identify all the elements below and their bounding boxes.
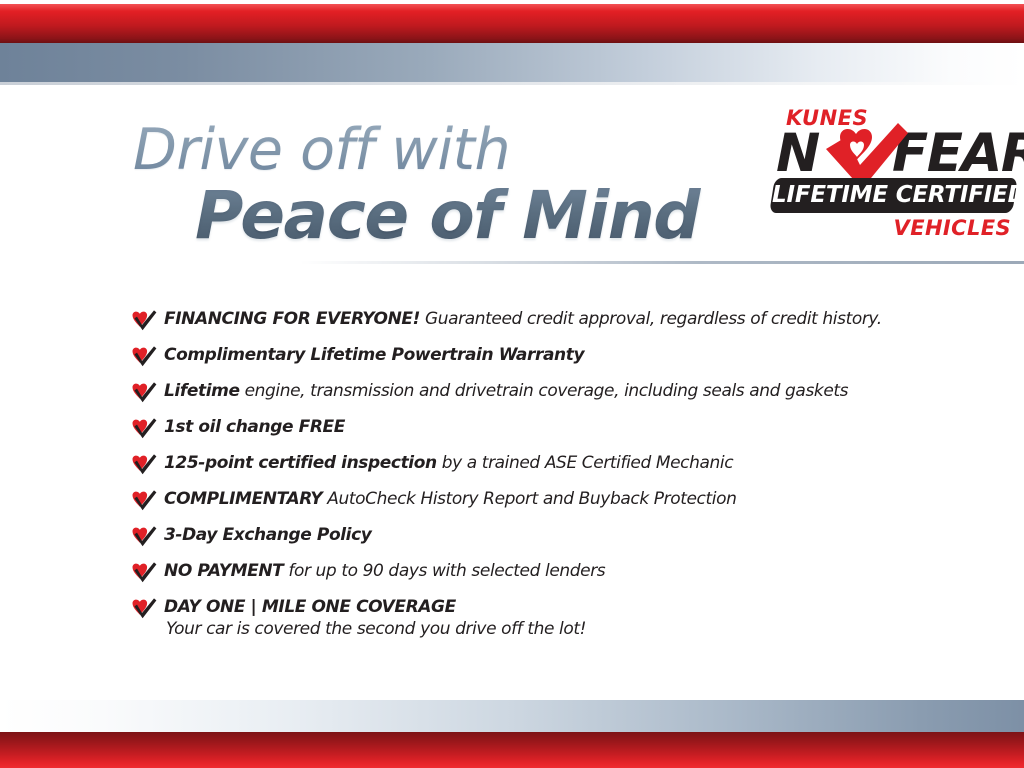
list-item-lead: COMPLIMENTARY	[164, 489, 322, 509]
list-item-lead: 1st oil change FREE	[164, 417, 345, 437]
heart-check-icon	[131, 525, 157, 547]
list-item-text: 1st oil change FREE	[164, 416, 931, 438]
list-item-tail: AutoCheck History Report and Buyback Pro…	[322, 489, 736, 509]
heart-check-icon	[131, 309, 157, 331]
list-item: COMPLIMENTARY AutoCheck History Report a…	[131, 488, 931, 514]
list-item-tail: by a trained ASE Certified Mechanic	[437, 453, 733, 473]
top-red-highlight	[0, 4, 1024, 11]
logo-certified-label: LIFETIME CERTIFIED	[772, 178, 1015, 213]
promotional-graphic: Drive off with Peace of Mind KUNES N FEA…	[0, 0, 1024, 768]
header-divider	[300, 261, 1024, 264]
list-item-lead: 125-point certified inspection	[164, 453, 437, 473]
list-item-tail: Guaranteed credit approval, regardless o…	[420, 309, 882, 329]
top-gray-shadow	[0, 82, 1024, 85]
list-item-text: NO PAYMENT for up to 90 days with select…	[164, 560, 931, 582]
heart-check-icon	[131, 489, 157, 511]
list-item-text: COMPLIMENTARY AutoCheck History Report a…	[164, 488, 931, 510]
list-item-lead: FINANCING FOR EVERYONE!	[164, 309, 420, 329]
list-item-tail: for up to 90 days with selected lenders	[283, 561, 605, 581]
list-item: FINANCING FOR EVERYONE! Guaranteed credi…	[131, 308, 931, 334]
list-item: Lifetime engine, transmission and drivet…	[131, 380, 931, 406]
list-item-tail: engine, transmission and drivetrain cove…	[240, 381, 849, 401]
list-item-text: 3-Day Exchange Policy	[164, 524, 931, 546]
list-item-text: FINANCING FOR EVERYONE! Guaranteed credi…	[164, 308, 931, 330]
list-item: NO PAYMENT for up to 90 days with select…	[131, 560, 931, 586]
list-item-text: 125-point certified inspection by a trai…	[164, 452, 931, 474]
headline-line-1: Drive off with	[133, 122, 773, 179]
list-item-lead: Lifetime	[164, 381, 240, 401]
logo-vehicles-label: VEHICLES	[894, 216, 1011, 240]
list-item-lead: DAY ONE | MILE ONE COVERAGE	[164, 597, 456, 617]
logo-letter-n: N	[776, 126, 818, 182]
headline: Drive off with Peace of Mind	[133, 122, 773, 249]
list-item-text: Complimentary Lifetime Powertrain Warran…	[164, 344, 931, 366]
list-item-lead: Complimentary Lifetime Powertrain Warran…	[164, 345, 584, 365]
heart-check-icon	[131, 453, 157, 475]
headline-line-2: Peace of Mind	[195, 183, 773, 249]
heart-check-icon	[131, 381, 157, 403]
list-item: 3-Day Exchange Policy	[131, 524, 931, 550]
heart-check-icon	[131, 561, 157, 583]
heart-check-icon	[131, 597, 157, 619]
top-gray-stripe	[0, 43, 1024, 82]
list-item-lead: 3-Day Exchange Policy	[164, 525, 371, 545]
logo-word-fear: FEAR	[892, 126, 1024, 182]
bottom-red-stripe	[0, 732, 1024, 768]
list-item-lead: NO PAYMENT	[164, 561, 283, 581]
bottom-gray-stripe	[0, 700, 1024, 732]
heart-check-icon	[131, 345, 157, 367]
list-item: 1st oil change FREE	[131, 416, 931, 442]
list-item-subtext: Your car is covered the second you drive…	[164, 618, 931, 641]
list-item-text: DAY ONE | MILE ONE COVERAGE	[164, 596, 931, 618]
list-item: DAY ONE | MILE ONE COVERAGE Your car is …	[131, 596, 931, 641]
logo-no-fear-wordmark: N FEAR	[776, 126, 1017, 184]
heart-check-icon	[131, 417, 157, 439]
list-item: Complimentary Lifetime Powertrain Warran…	[131, 344, 931, 370]
kunes-no-fear-logo: KUNES N FEAR LIFETIME CERTIFIED VEHICLES	[772, 106, 1017, 251]
bottom-banner	[0, 688, 1024, 768]
list-item-text: Lifetime engine, transmission and drivet…	[164, 380, 931, 402]
top-banner	[0, 0, 1024, 84]
benefits-list: FINANCING FOR EVERYONE! Guaranteed credi…	[131, 308, 931, 651]
list-item: 125-point certified inspection by a trai…	[131, 452, 931, 478]
